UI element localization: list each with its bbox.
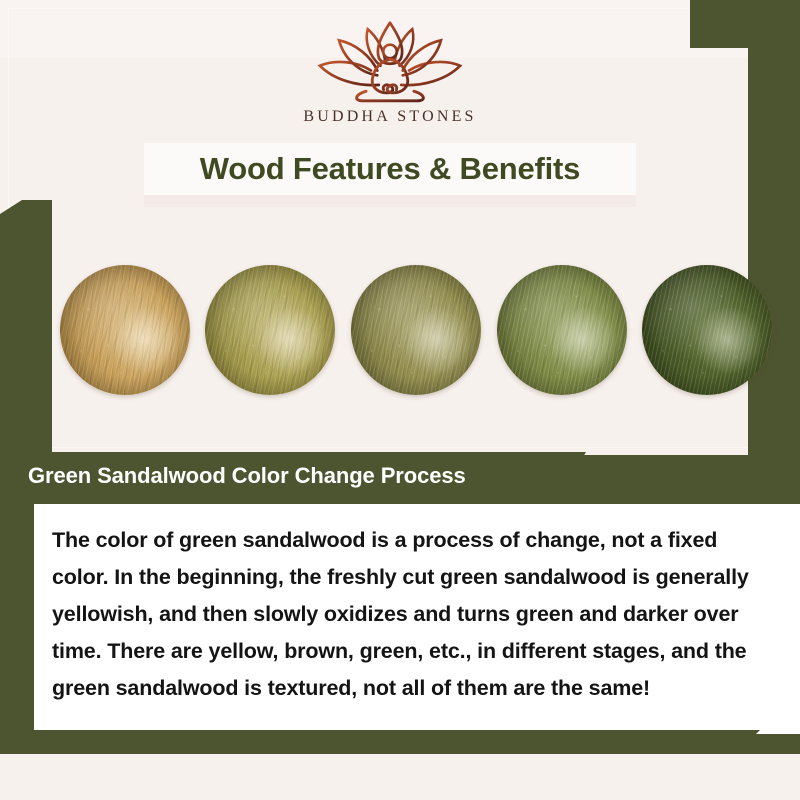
bead-shading: [351, 265, 481, 395]
section-header-banner: Green Sandalwood Color Change Process: [0, 452, 586, 500]
bead-stage-3: [351, 265, 481, 395]
frame-bottom-wedge: [0, 730, 760, 754]
title-banner: Wood Features & Benefits: [144, 143, 636, 195]
bead-shading: [205, 265, 335, 395]
bead-stage-2: [205, 265, 335, 395]
page-title: Wood Features & Benefits: [200, 151, 580, 187]
bead-shading: [497, 265, 627, 395]
section-heading: Green Sandalwood Color Change Process: [28, 463, 466, 489]
bead-stage-1: [60, 265, 190, 395]
bead-shading: [642, 265, 772, 395]
bead-stage-4: [497, 265, 627, 395]
bottom-cream-strip: [0, 754, 800, 800]
bead-row: [52, 250, 780, 410]
bead-stage-5: [642, 265, 772, 395]
title-banner-shadow: [144, 195, 636, 207]
brand-name: BUDDHA STONES: [303, 108, 476, 126]
body-paragraph: The color of green sandalwood is a proce…: [34, 504, 800, 707]
lotus-meditation-icon: [310, 18, 470, 104]
bead-shading: [60, 265, 190, 395]
brand-logo: BUDDHA STONES: [0, 18, 780, 138]
body-text-panel: The color of green sandalwood is a proce…: [34, 504, 800, 734]
infographic-canvas: BUDDHA STONES Wood Features & Benefits: [0, 0, 800, 800]
